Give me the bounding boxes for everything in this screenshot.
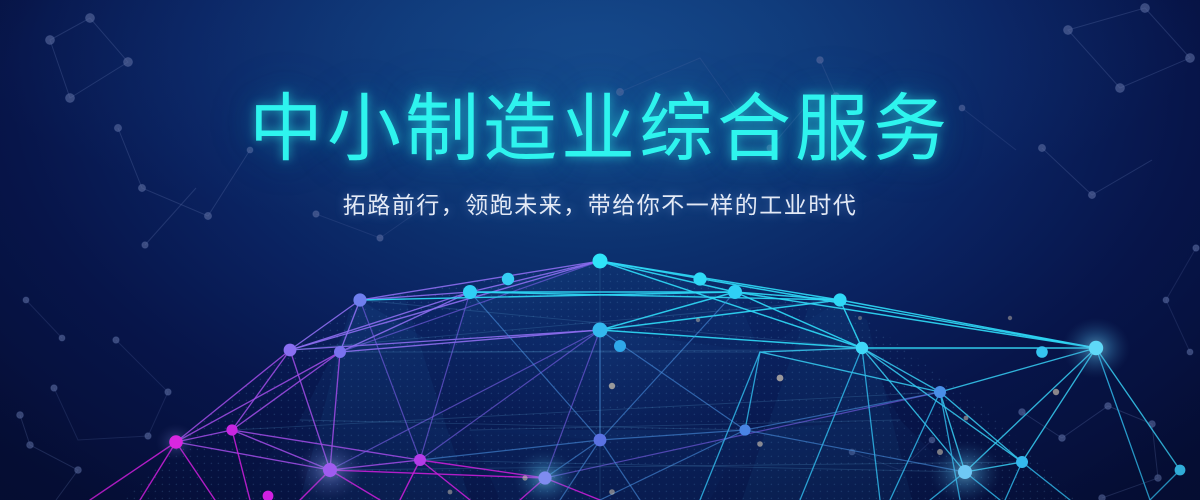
hero-banner: 中小制造业综合服务 拓路前行，领跑未来，带给你不一样的工业时代 [0,0,1200,500]
background-vignette [0,0,1200,500]
